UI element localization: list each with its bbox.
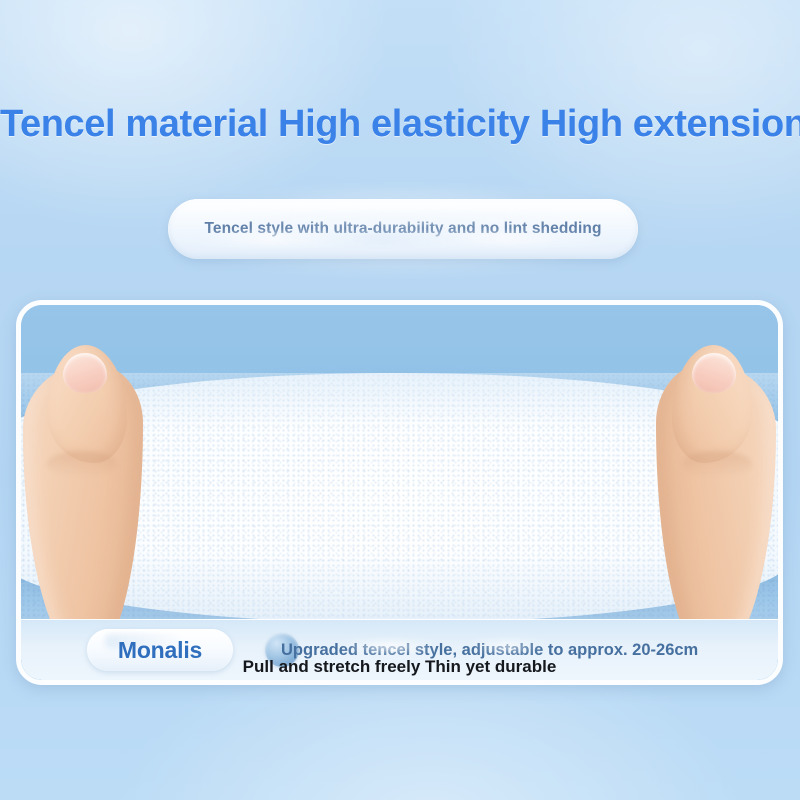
photo-caption: Pull and stretch freely Thin yet durable bbox=[21, 657, 778, 677]
capsule-artifact-upper bbox=[228, 215, 568, 225]
capsule-artifact-lower bbox=[196, 232, 612, 246]
left-hand bbox=[23, 345, 173, 650]
right-thumbnail bbox=[692, 353, 736, 393]
subtitle-capsule: Tencel style with ultra-durability and n… bbox=[168, 199, 638, 259]
product-photo-card: Pull and stretch freely Thin yet durable… bbox=[16, 300, 783, 685]
product-feature-banner: Tencel material High elasticity High ext… bbox=[0, 0, 800, 800]
right-hand bbox=[626, 345, 776, 650]
photo-canvas: Pull and stretch freely Thin yet durable… bbox=[21, 305, 778, 680]
right-knuckle-shadow bbox=[682, 451, 752, 477]
caption-artifact-right bbox=[471, 641, 543, 652]
left-knuckle-shadow bbox=[47, 451, 117, 477]
capsule-body: Tencel style with ultra-durability and n… bbox=[168, 199, 638, 259]
left-thumbnail bbox=[63, 353, 107, 393]
caption-artifact-left bbox=[341, 641, 437, 652]
page-title: Tencel material High elasticity High ext… bbox=[0, 103, 800, 146]
